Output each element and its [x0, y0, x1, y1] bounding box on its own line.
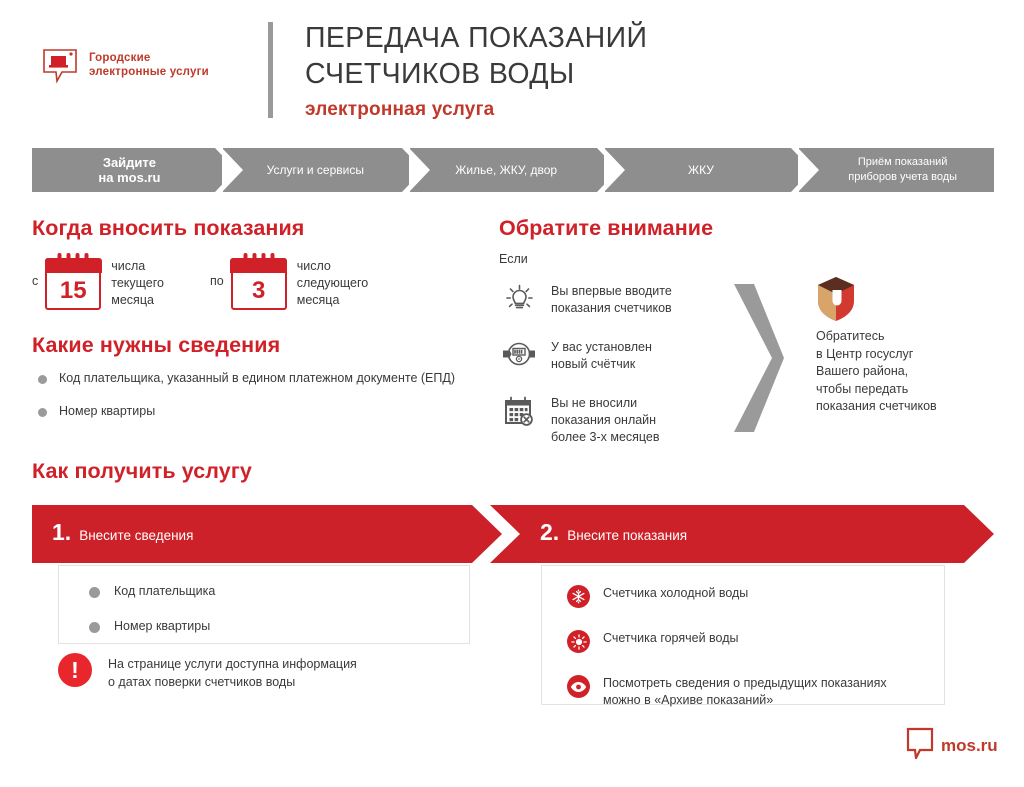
when-from-label-1: числа [111, 259, 145, 273]
gosuslugi-result: Обратитесь в Центр госуслуг Вашего район… [816, 275, 996, 416]
attention-item-3-line-2: показания онлайн [551, 413, 656, 427]
when-from-day: 15 [60, 274, 87, 308]
step-2-item-3-line-2: можно в «Архиве показаний» [603, 693, 773, 707]
breadcrumb: Зайдите на mos.ru Услуги и сервисы Жилье… [32, 148, 994, 192]
bullet-dot-icon [38, 375, 47, 384]
speech-bubble-screen-icon [40, 45, 80, 85]
gosuslugi-line-4: чтобы передать [816, 382, 908, 396]
attention-item-1-line-1: Вы впервые вводите [551, 284, 672, 298]
gosuslugi-line-3: Вашего района, [816, 364, 908, 378]
step-1-number: 1 [52, 521, 65, 544]
breadcrumb-step-1[interactable]: Зайдите на mos.ru [32, 148, 215, 192]
step-2-title: Внесите показания [567, 528, 687, 543]
breadcrumb-step-1-line-2: на mos.ru [80, 170, 172, 185]
step-2-item-1: Счетчика холодной воды [567, 585, 944, 608]
footer-logo: mos.ru [906, 727, 998, 764]
step-1-dot: . [65, 519, 71, 546]
page-title: ПЕРЕДАЧА ПОКАЗАНИЙ СЧЕТЧИКОВ ВОДЫ [305, 20, 647, 92]
step-1-item-1: Код плательщика [89, 583, 469, 600]
when-from: с 15 числа текущего месяца [32, 252, 164, 310]
list-item: Номер квартиры [32, 403, 462, 420]
steps-section: 1 . Внесите сведения 2 . Внесите показан… [0, 505, 1024, 695]
attention-item-2: У вас установлен новый счётчик [499, 334, 724, 374]
needed-item-1: Код плательщика, указанный в едином плат… [59, 370, 455, 387]
gosuslugi-line-1: Обратитесь [816, 329, 885, 343]
attention-item-2-line-2: новый счётчик [551, 357, 635, 371]
attention-item-1-line-2: показания счетчиков [551, 301, 672, 315]
gosuslugi-line-2: в Центр госуслуг [816, 347, 913, 361]
step-1-label: 1 . Внесите сведения [52, 519, 193, 546]
step-1-note-line-1: На странице услуги доступна информация [108, 657, 357, 671]
needed-item-2: Номер квартиры [59, 403, 155, 420]
attention-if-label: Если [499, 252, 528, 266]
calendar-icon-from: 15 [45, 258, 101, 310]
when-to-day: 3 [252, 274, 265, 308]
attention-list: Вы впервые вводите показания счетчиков [499, 278, 724, 462]
when-from-label: числа текущего месяца [111, 258, 164, 309]
breadcrumb-step-2[interactable]: Услуги и сервисы [223, 148, 402, 192]
step-1-banner: 1 . Внесите сведения [32, 505, 502, 563]
chevron-right-large-icon [726, 284, 790, 437]
step-1-title: Внесите сведения [79, 528, 193, 543]
attention-item-2-line-1: У вас установлен [551, 340, 652, 354]
when-from-label-2: текущего [111, 276, 164, 290]
mos-ru-bubble-icon [906, 727, 934, 764]
breadcrumb-step-3[interactable]: Жилье, ЖКУ, двор [410, 148, 597, 192]
when-from-preposition: с [32, 274, 38, 288]
step-1-item-2-text: Номер квартиры [114, 618, 210, 635]
brand-label: Городские электронные услуги [89, 51, 209, 79]
when-to: по 3 число следующего месяца [210, 252, 368, 310]
attention-item-2-text: У вас установлен новый счётчик [551, 334, 652, 373]
attention-item-3-line-3: более 3-х месяцев [551, 430, 660, 444]
snowflake-icon [567, 585, 590, 608]
water-meter-icon [499, 334, 539, 374]
breadcrumb-step-4[interactable]: ЖКУ [605, 148, 792, 192]
needed-list: Код плательщика, указанный в едином плат… [32, 370, 462, 436]
breadcrumb-step-1-line-1: Зайдите [85, 155, 168, 170]
section-heading-how: Как получить услугу [32, 459, 252, 484]
footer-logo-label: mos.ru [941, 736, 998, 756]
step-1-item-2: Номер квартиры [89, 618, 469, 635]
breadcrumb-step-5-line-2: приборов учета воды [830, 171, 969, 183]
breadcrumb-step-5[interactable]: Приём показаний приборов учета воды [799, 148, 994, 192]
brand-logo: Городские электронные услуги [40, 45, 209, 85]
when-to-label-2: следующего [297, 276, 368, 290]
exclamation-circle-icon: ! [58, 653, 92, 687]
step-2-item-1-text: Счетчика холодной воды [603, 585, 748, 602]
attention-item-1: Вы впервые вводите показания счетчиков [499, 278, 724, 318]
step-1-card: Код плательщика Номер квартиры [58, 565, 470, 644]
gosuslugi-line-5: показания счетчиков [816, 399, 937, 413]
calendar-icon-to: 3 [231, 258, 287, 310]
calendar-rings [243, 253, 274, 266]
page-title-line-1: ПЕРЕДАЧА ПОКАЗАНИЙ [305, 20, 647, 56]
step-1-item-1-text: Код плательщика [114, 583, 215, 600]
page-subtitle: электронная услуга [305, 99, 494, 121]
bullet-dot-icon [89, 587, 100, 598]
bullet-dot-icon [38, 408, 47, 417]
step-2-item-3-line-1: Посмотреть сведения о предыдущих показан… [603, 676, 887, 690]
breadcrumb-step-4-label: ЖКУ [670, 163, 726, 178]
gosuslugi-text: Обратитесь в Центр госуслуг Вашего район… [816, 328, 996, 416]
step-2-item-3-text: Посмотреть сведения о предыдущих показан… [603, 675, 887, 709]
sun-icon [567, 630, 590, 653]
breadcrumb-step-5-line-1: Приём показаний [840, 156, 960, 168]
gosuslugi-shield-icon [816, 310, 856, 327]
brand-line-2: электронные услуги [89, 66, 209, 78]
exclamation-glyph: ! [71, 659, 79, 682]
breadcrumb-step-2-label: Услуги и сервисы [249, 163, 376, 178]
section-heading-when: Когда вносить показания [32, 216, 304, 241]
brand-line-1: Городские [89, 52, 150, 64]
bullet-dot-icon [89, 622, 100, 633]
attention-item-3: Вы не вносили показания онлайн более 3-х… [499, 390, 724, 446]
step-2-item-3: Посмотреть сведения о предыдущих показан… [567, 675, 944, 709]
header: Городские электронные услуги ПЕРЕДАЧА ПО… [0, 0, 1024, 140]
when-to-preposition: по [210, 274, 224, 288]
attention-item-1-text: Вы впервые вводите показания счетчиков [551, 278, 672, 317]
when-from-label-3: месяца [111, 293, 154, 307]
step-1-note-text: На странице услуги доступна информация о… [108, 653, 357, 691]
when-to-label: число следующего месяца [297, 258, 368, 309]
header-divider [268, 22, 273, 118]
step-1-note-line-2: о датах поверки счетчиков воды [108, 675, 295, 689]
section-heading-attention: Обратите внимание [499, 216, 713, 241]
step-2-banner: 2 . Внесите показания [490, 505, 994, 563]
attention-item-3-line-1: Вы не вносили [551, 396, 637, 410]
step-2-item-2-text: Счетчика горячей воды [603, 630, 739, 647]
when-to-label-3: месяца [297, 293, 340, 307]
step-1-note: ! На странице услуги доступна информация… [58, 653, 478, 691]
attention-item-3-text: Вы не вносили показания онлайн более 3-х… [551, 390, 660, 446]
step-2-number: 2 [540, 521, 553, 544]
lightbulb-icon [499, 278, 539, 318]
breadcrumb-step-3-label: Жилье, ЖКУ, двор [437, 163, 569, 178]
section-heading-needed: Какие нужны сведения [32, 333, 280, 358]
infographic-page: Городские электронные услуги ПЕРЕДАЧА ПО… [0, 0, 1024, 787]
step-2-dot: . [553, 519, 559, 546]
list-item: Код плательщика, указанный в едином плат… [32, 370, 462, 387]
calendar-rings [58, 253, 89, 266]
step-2-item-2: Счетчика горячей воды [567, 630, 944, 653]
when-date-range: с 15 числа текущего месяца по 3 число сл… [32, 252, 368, 310]
page-title-line-2: СЧЕТЧИКОВ ВОДЫ [305, 56, 647, 92]
eye-icon [567, 675, 590, 698]
step-2-label: 2 . Внесите показания [540, 519, 687, 546]
calendar-cancel-icon [499, 390, 539, 430]
when-to-label-1: число [297, 259, 331, 273]
step-2-card: Счетчика холодной воды Счетчика горячей … [541, 565, 945, 705]
